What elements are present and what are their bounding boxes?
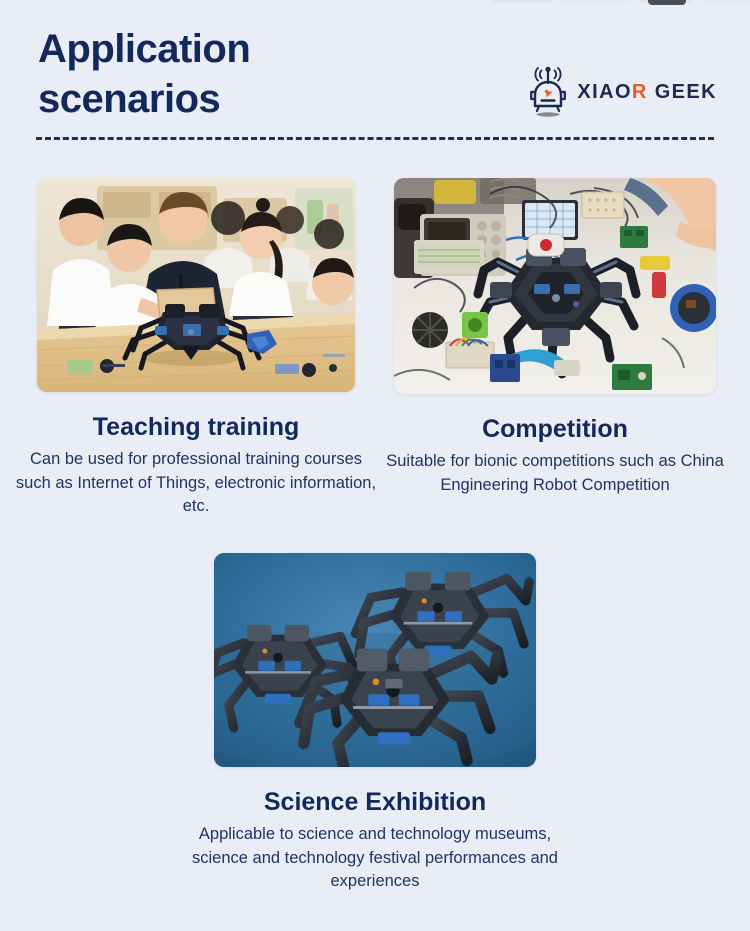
brand-name-main: XIAO — [577, 81, 632, 103]
robot-antenna-icon — [527, 66, 569, 118]
brand-name-suffix: GEEK — [648, 81, 717, 103]
scenario-photo-teaching — [37, 178, 355, 392]
scenario-card-competition: Competition Suitable for bionic competit… — [372, 178, 738, 497]
scenario-title-competition: Competition — [372, 414, 738, 444]
scenario-title-teaching: Teaching training — [12, 412, 380, 442]
page-title-line-1: Application — [38, 24, 468, 74]
page-header: Application scenarios — [0, 0, 750, 160]
scenario-photo-science — [214, 553, 536, 767]
scenario-description-science: Applicable to science and technology mus… — [175, 823, 575, 894]
brand-name: XIAOR GEEK — [577, 81, 717, 104]
scenario-description-teaching: Can be used for professional training co… — [12, 448, 380, 519]
scenario-photo-competition — [394, 178, 716, 394]
header-divider — [36, 137, 714, 140]
page-title: Application scenarios — [38, 24, 468, 124]
brand-logo: XIAOR GEEK — [527, 66, 717, 118]
scenario-description-competition: Suitable for bionic competitions such as… — [372, 450, 738, 497]
scenario-card-teaching: Teaching training Can be used for profes… — [12, 178, 380, 519]
scenario-title-science: Science Exhibition — [175, 787, 575, 817]
page-title-line-2: scenarios — [38, 74, 468, 124]
brand-name-accent: R — [632, 81, 648, 103]
scenario-card-science: Science Exhibition Applicable to science… — [175, 553, 575, 894]
